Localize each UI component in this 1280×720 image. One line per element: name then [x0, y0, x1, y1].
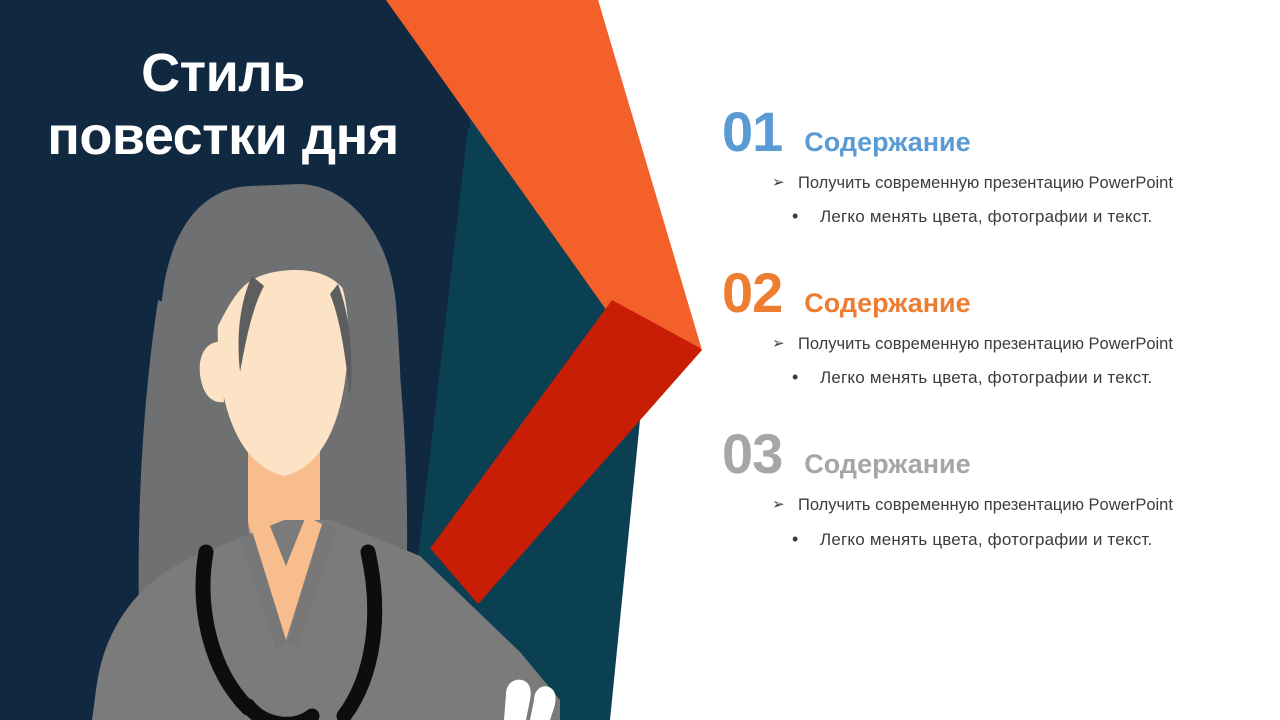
agenda-item-03-head: 03 Содержание — [700, 426, 1260, 482]
dot-bullet-icon: • — [792, 206, 820, 228]
list-item-text: Легко менять цвета, фотографии и текст. — [820, 529, 1260, 552]
agenda-item-02-bullets: ➢ Получить современную презентацию Power… — [700, 333, 1260, 390]
list-item-text: Получить современную презентацию PowerPo… — [798, 172, 1260, 194]
list-item-text: Легко менять цвета, фотографии и текст. — [820, 206, 1260, 229]
agenda-item-02[interactable]: 02 Содержание ➢ Получить современную пре… — [700, 265, 1260, 390]
agenda-item-02-number: 02 — [722, 265, 782, 321]
slide-artwork — [0, 0, 720, 720]
dot-bullet-icon: • — [792, 529, 820, 551]
list-item-text: Легко менять цвета, фотографии и текст. — [820, 367, 1260, 390]
agenda-item-03[interactable]: 03 Содержание ➢ Получить современную пре… — [700, 426, 1260, 551]
agenda-item-02-heading: Содержание — [804, 290, 970, 317]
arrow-bullet-icon: ➢ — [772, 494, 798, 516]
agenda-item-01-bullets: ➢ Получить современную презентацию Power… — [700, 172, 1260, 229]
agenda-item-01[interactable]: 01 Содержание ➢ Получить современную пре… — [700, 104, 1260, 229]
list-item: ➢ Получить современную презентацию Power… — [700, 494, 1260, 516]
list-item-text: Получить современную презентацию PowerPo… — [798, 333, 1260, 355]
arrow-bullet-icon: ➢ — [772, 172, 798, 194]
agenda-item-03-bullets: ➢ Получить современную презентацию Power… — [700, 494, 1260, 551]
list-item: • Легко менять цвета, фотографии и текст… — [700, 367, 1260, 390]
agenda-item-01-number: 01 — [722, 104, 782, 160]
list-item: ➢ Получить современную презентацию Power… — [700, 333, 1260, 355]
list-item: • Легко менять цвета, фотографии и текст… — [700, 206, 1260, 229]
agenda-item-01-heading: Содержание — [804, 129, 970, 156]
agenda-item-02-head: 02 Содержание — [700, 265, 1260, 321]
dot-bullet-icon: • — [792, 367, 820, 389]
list-item: • Легко менять цвета, фотографии и текст… — [700, 529, 1260, 552]
agenda-item-03-number: 03 — [722, 426, 782, 482]
agenda-item-01-head: 01 Содержание — [700, 104, 1260, 160]
presentation-slide: Стиль повестки дня 01 Содержание ➢ Получ… — [0, 0, 1280, 720]
list-item: ➢ Получить современную презентацию Power… — [700, 172, 1260, 194]
agenda-list: 01 Содержание ➢ Получить современную пре… — [700, 104, 1260, 552]
list-item-text: Получить современную презентацию PowerPo… — [798, 494, 1260, 516]
arrow-bullet-icon: ➢ — [772, 333, 798, 355]
agenda-item-03-heading: Содержание — [804, 451, 970, 478]
